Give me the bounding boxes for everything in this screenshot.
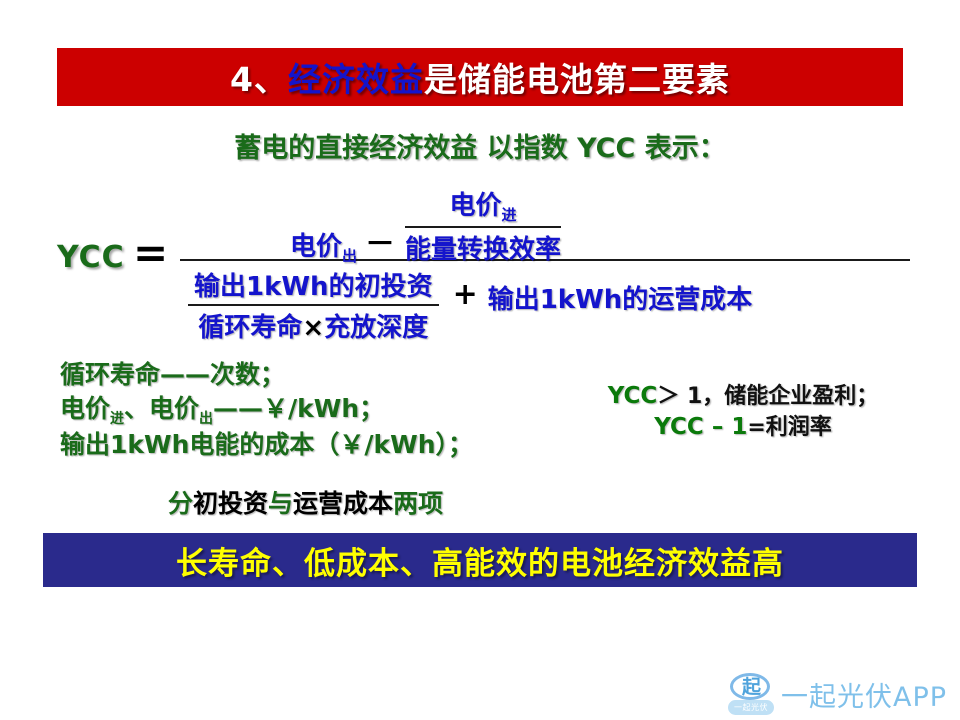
notes-line4-part4: 运营成本 xyxy=(293,489,393,518)
notes-line4-part5: 两项 xyxy=(393,489,443,518)
inner-fraction-numerator: 电价进 xyxy=(405,185,561,226)
notes-price-unit: ——￥/kWh； xyxy=(213,394,384,423)
notes-line-1: 循环寿命——次数； xyxy=(60,358,473,392)
denominator-fraction-denominator: 循环寿命×充放深度 xyxy=(188,306,439,344)
denominator-operating-cost: 输出1kWh的运营成本 xyxy=(488,279,753,316)
denominator-times-sign: × xyxy=(302,313,324,343)
title-banner: 4、经济效益是储能电池第二要素 xyxy=(57,48,903,106)
numerator-term1-subscript: 出 xyxy=(342,247,357,265)
brand-logo: 起 一起光伏 一起光伏APP xyxy=(728,672,947,716)
denominator-plus-sign: + xyxy=(453,280,478,310)
notes-line4-part1: 分 xyxy=(168,489,193,518)
numerator-term1-base: 电价 xyxy=(290,232,342,262)
remarks-block: YCC＞ 1，储能企业盈利； YCC – 1=利润率 xyxy=(533,381,953,443)
notes-line-2: 电价进、电价出——￥/kWh； xyxy=(60,392,473,429)
logo-mark-char: 起 xyxy=(742,672,761,699)
logo-icon: 起 一起光伏 xyxy=(728,672,774,716)
remarks-text-1: ＞ 1，储能企业盈利； xyxy=(657,384,878,409)
conclusion-banner: 长寿命、低成本、高能效的电池经济效益高 xyxy=(43,533,917,587)
logo-wordmark: 一起光伏APP xyxy=(781,675,947,714)
denominator-cycle-life: 循环寿命 xyxy=(198,313,302,343)
inner-numerator-subscript: 进 xyxy=(502,206,517,224)
notes-price-in-base: 电价 xyxy=(60,394,110,423)
notes-line4-part2: 初投资 xyxy=(193,489,268,518)
title-highlight: 经济效益 xyxy=(288,60,424,99)
notes-price-out-subscript: 出 xyxy=(199,411,213,427)
formula-denominator-row: 输出1kWh的初投资 循环寿命×充放深度 + 输出1kWh的运营成本 xyxy=(188,266,752,344)
notes-line4-part3: 与 xyxy=(268,489,293,518)
title-number: 4、 xyxy=(230,60,288,99)
numerator-term1: 电价出 xyxy=(290,226,357,266)
formula-lhs-ycc: YCC xyxy=(57,240,125,275)
notes-line-3: 输出1kWh电能的成本（￥/kWh）； xyxy=(60,428,473,462)
remarks-line-2: YCC – 1=利润率 xyxy=(533,412,953,443)
denominator-fraction-numerator: 输出1kWh的初投资 xyxy=(188,266,439,304)
inner-fraction-denominator: 能量转换效率 xyxy=(405,228,561,266)
title-rest: 是储能电池第二要素 xyxy=(424,60,730,99)
notes-block: 循环寿命——次数； 电价进、电价出——￥/kWh； 输出1kWh电能的成本（￥/… xyxy=(60,358,473,462)
inner-numerator-base: 电价 xyxy=(450,191,502,221)
remarks-line-1: YCC＞ 1，储能企业盈利； xyxy=(533,381,953,412)
page-title: 4、经济效益是储能电池第二要素 xyxy=(230,53,730,101)
remarks-ycc-2: YCC – 1 xyxy=(654,414,747,440)
inner-fraction: 电价进 能量转换效率 xyxy=(405,185,561,266)
denominator-depth-of-discharge: 充放深度 xyxy=(324,313,428,343)
logo-ribbon-text: 一起光伏 xyxy=(728,700,774,715)
formula-numerator-row: 电价出 － 电价进 能量转换效率 xyxy=(290,185,561,266)
subtitle: 蓄电的直接经济效益 以指数 YCC 表示： xyxy=(0,126,960,165)
conclusion-text: 长寿命、低成本、高能效的电池经济效益高 xyxy=(176,538,784,583)
numerator-minus-sign: － xyxy=(365,230,395,260)
notes-line-4: 分初投资与运营成本两项 xyxy=(168,484,443,520)
notes-price-out-base: 、电价 xyxy=(124,394,199,423)
formula-equals-sign: = xyxy=(133,232,168,274)
remarks-ycc-1: YCC xyxy=(608,383,658,409)
denominator-fraction: 输出1kWh的初投资 循环寿命×充放深度 xyxy=(188,266,439,344)
remarks-text-2: =利润率 xyxy=(747,415,831,440)
notes-price-in-subscript: 进 xyxy=(110,411,124,427)
